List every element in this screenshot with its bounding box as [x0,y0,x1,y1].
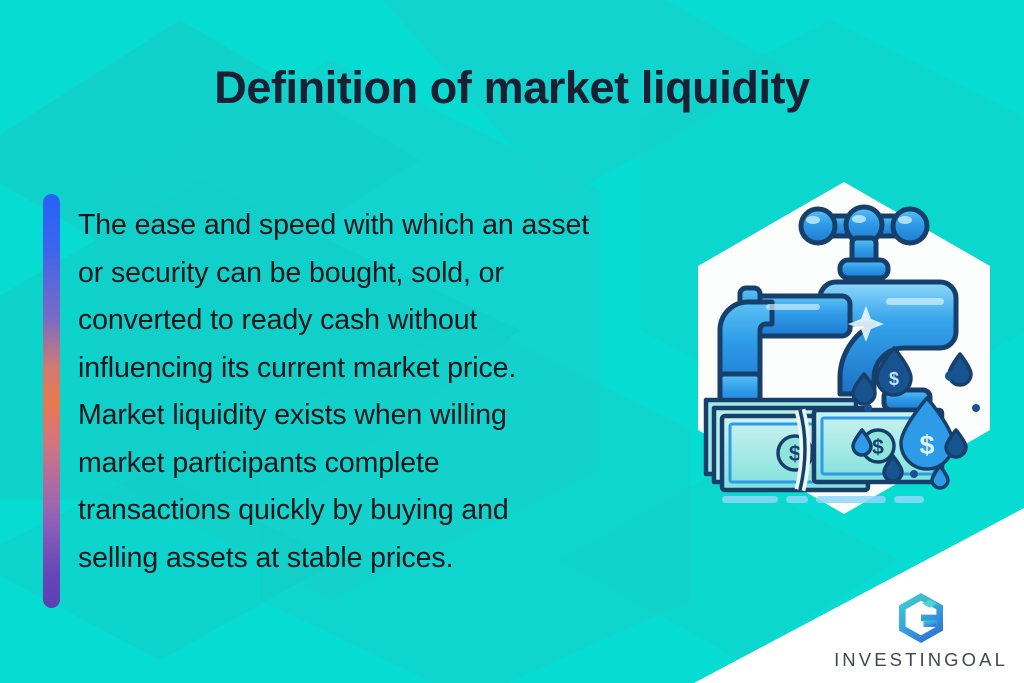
body-line: transactions quickly by buying and [78,487,688,535]
body-line: converted to ready cash without [78,297,688,345]
hexagon-g-logo-icon [895,591,947,645]
body-line: selling assets at stable prices. [78,535,688,583]
body-line: Market liquidity exists when willing [78,392,688,440]
ground-dashes [722,496,924,503]
body-line: influencing its current market price. [78,345,688,393]
svg-text:$: $ [889,369,899,389]
faucet-dripping-money-illustration: $ $ $ $ [688,178,1000,518]
slide-canvas: Definition of market liquidity The ease … [0,0,1024,683]
svg-text:$: $ [872,436,884,459]
body-line: or security can be bought, sold, or [78,250,688,298]
body-line: market participants complete [78,440,688,488]
accent-bar [43,194,60,608]
svg-text:$: $ [919,430,934,460]
brand-logo[interactable]: INVESTINGOAL [834,591,1008,671]
brand-wordmark: INVESTINGOAL [834,649,1008,671]
definition-body-text: The ease and speed with which an asset o… [78,202,688,582]
valve-collar [840,260,888,278]
page-title: Definition of market liquidity [0,62,1024,114]
body-line: The ease and speed with which an asset [78,202,688,250]
